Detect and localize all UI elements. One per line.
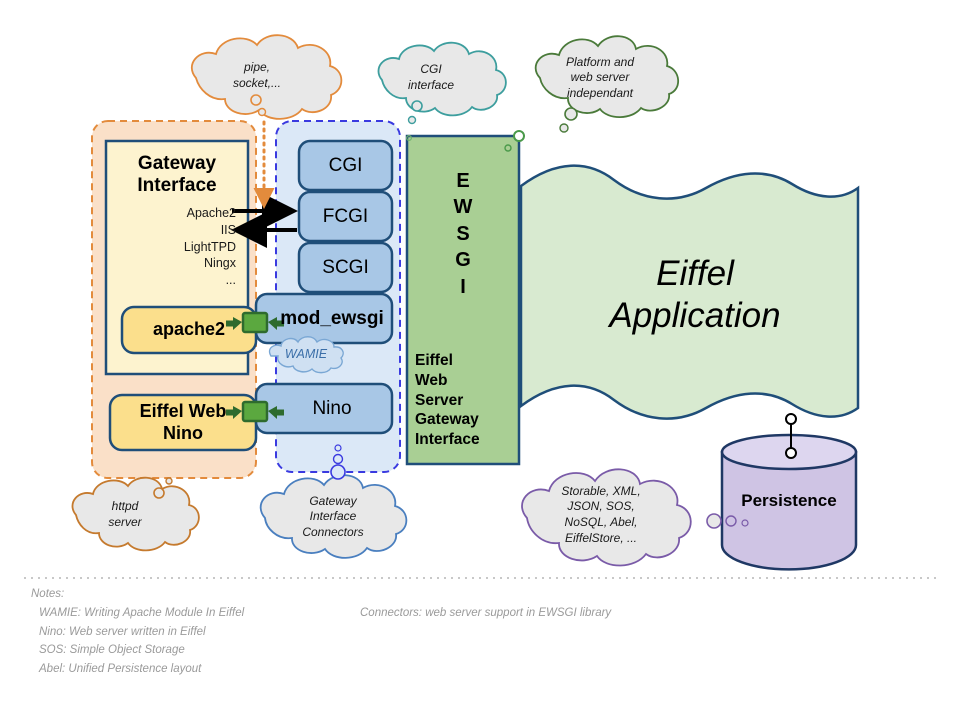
cloud-cgi-interface — [378, 43, 505, 124]
connector-box-fcgi[interactable] — [299, 192, 392, 241]
apache2-box[interactable] — [122, 307, 256, 353]
connector-box-scgi[interactable] — [299, 243, 392, 292]
cloud-persistence-formats — [522, 469, 748, 565]
diagram-canvas: Gateway Interface Apache2 IIS LightTPD N… — [0, 0, 960, 720]
eiffel-web-nino-box[interactable] — [110, 395, 256, 450]
eiffel-application-flag — [521, 166, 858, 419]
ewsgi-panel — [407, 136, 519, 464]
connector-box-cgi[interactable] — [299, 141, 392, 190]
cloud-httpd-server — [72, 478, 198, 551]
cloud-pipe-socket — [192, 35, 342, 119]
diagram-svg — [0, 0, 960, 720]
cloud-platform-independent — [536, 36, 679, 132]
